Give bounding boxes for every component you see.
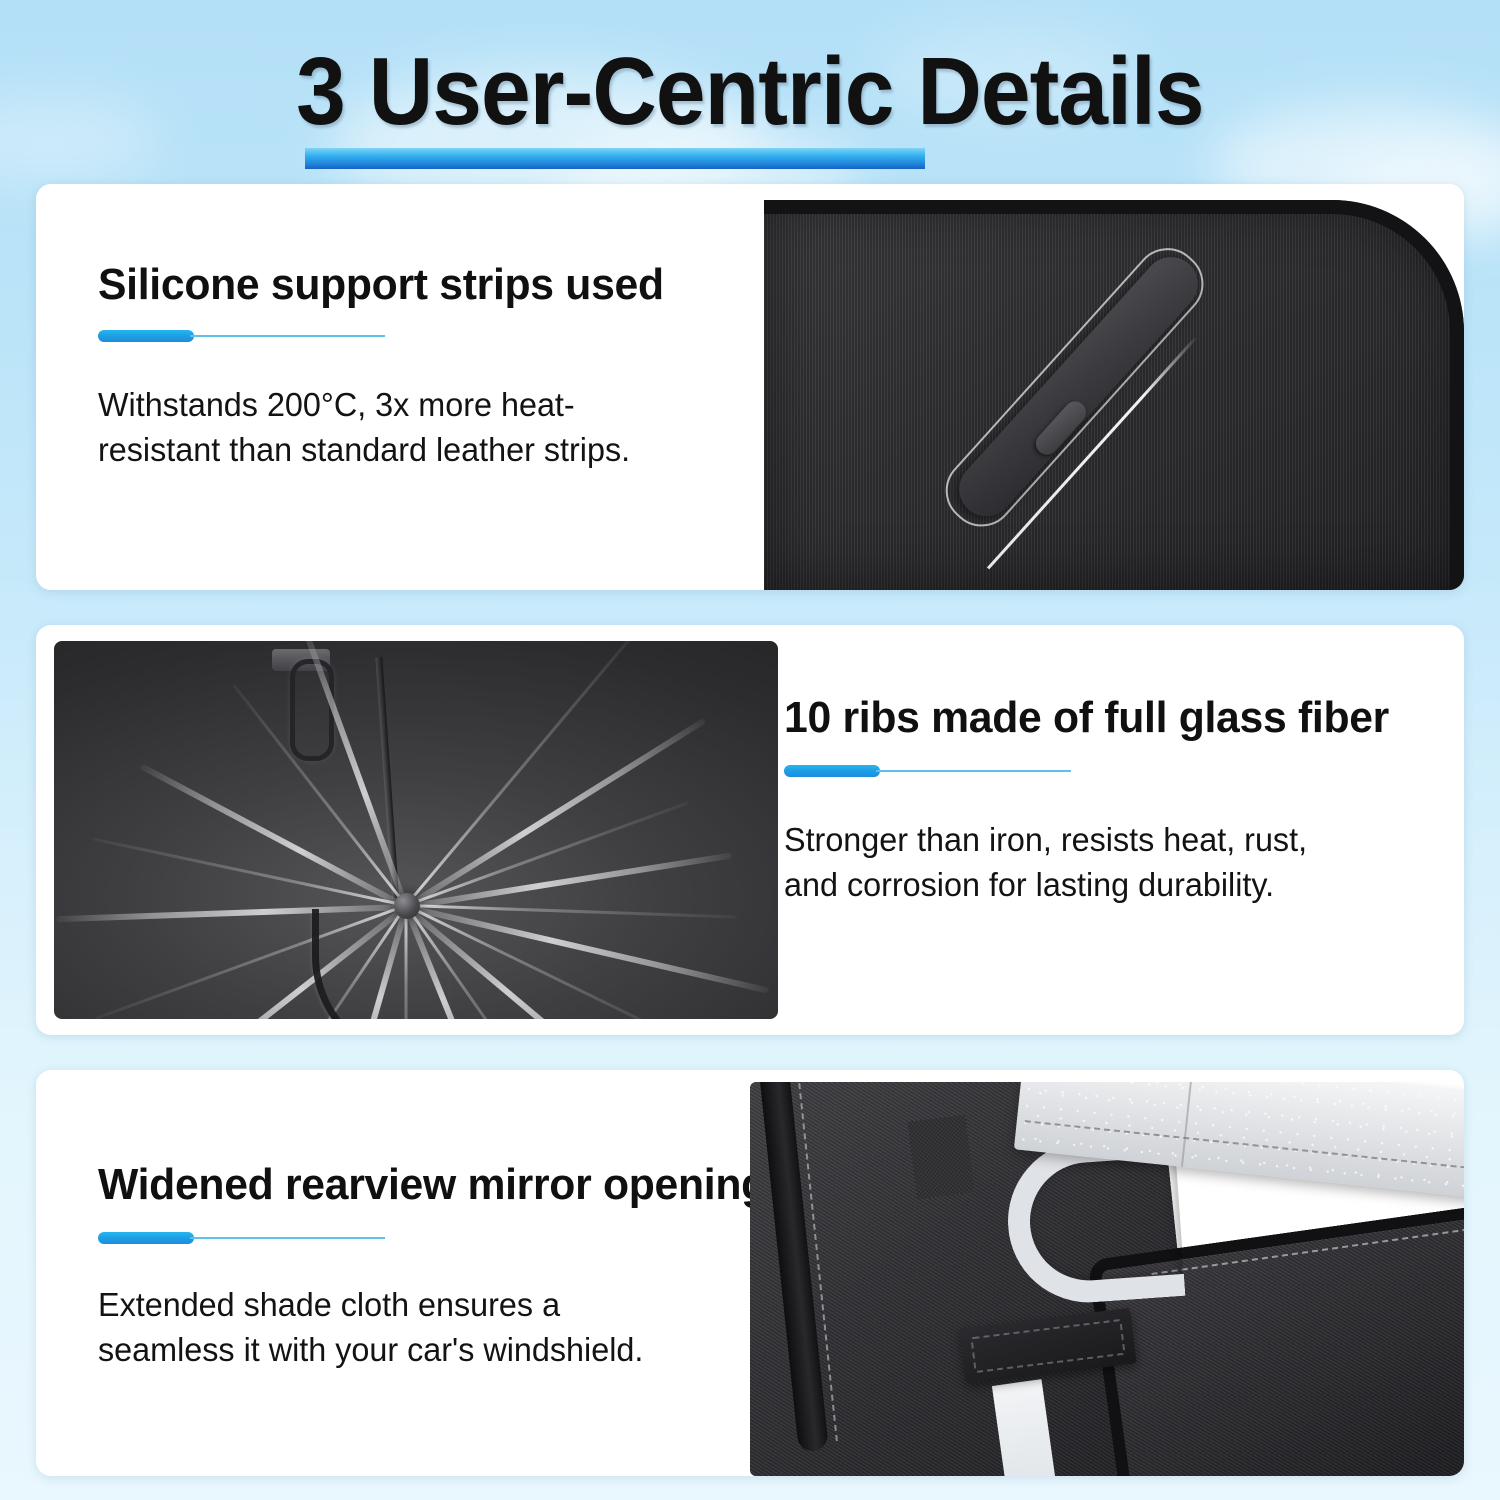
page-header: 3 User-Centric Details	[0, 38, 1500, 148]
card-text-block: Widened rearview mirror opening Extended…	[98, 1070, 718, 1476]
card-body-text: Stronger than iron, resists heat, rust, …	[784, 817, 1333, 907]
card-text-block: 10 ribs made of full glass fiber Stronge…	[784, 625, 1444, 1035]
page-title: 3 User-Centric Details	[296, 38, 1203, 146]
divider-bar	[98, 1232, 194, 1244]
divider-bar	[784, 765, 880, 777]
divider-bar	[98, 330, 194, 342]
card-body-text: Withstands 200°C, 3x more heat-resistant…	[98, 382, 647, 472]
feature-card-glass-fiber-ribs: 10 ribs made of full glass fiber Stronge…	[36, 625, 1464, 1035]
title-underline	[305, 148, 925, 169]
product-photo-umbrella-ribs	[54, 641, 778, 1019]
card-text-block: Silicone support strips used Withstands …	[98, 184, 718, 590]
umbrella-handle-curve	[312, 909, 449, 1019]
divider-line	[876, 770, 1071, 772]
feature-card-silicone-support-strips: Silicone support strips used Withstands …	[36, 184, 1464, 590]
card-headline: 10 ribs made of full glass fiber	[784, 693, 1389, 743]
divider-line	[190, 335, 385, 337]
umbrella-stretcher	[405, 641, 639, 906]
infographic-page: 3 User-Centric Details Silicone support …	[0, 0, 1500, 1500]
product-photo-silicone-strip	[732, 184, 1464, 590]
feature-card-rearview-mirror-opening: Widened rearview mirror opening Extended…	[36, 1070, 1464, 1476]
hanging-loop	[290, 659, 334, 761]
card-headline: Silicone support strips used	[98, 260, 664, 310]
umbrella-rib	[406, 852, 733, 910]
velcro-patch	[907, 1115, 974, 1199]
umbrella-rib	[140, 764, 408, 910]
card-headline: Widened rearview mirror opening	[98, 1160, 767, 1210]
rib-hub	[394, 893, 420, 919]
tab-stitch-line	[970, 1319, 1125, 1373]
divider-line	[190, 1237, 385, 1239]
product-photo-mirror-opening	[750, 1082, 1464, 1476]
card-body-text: Extended shade cloth ensures a seamless …	[98, 1282, 647, 1372]
